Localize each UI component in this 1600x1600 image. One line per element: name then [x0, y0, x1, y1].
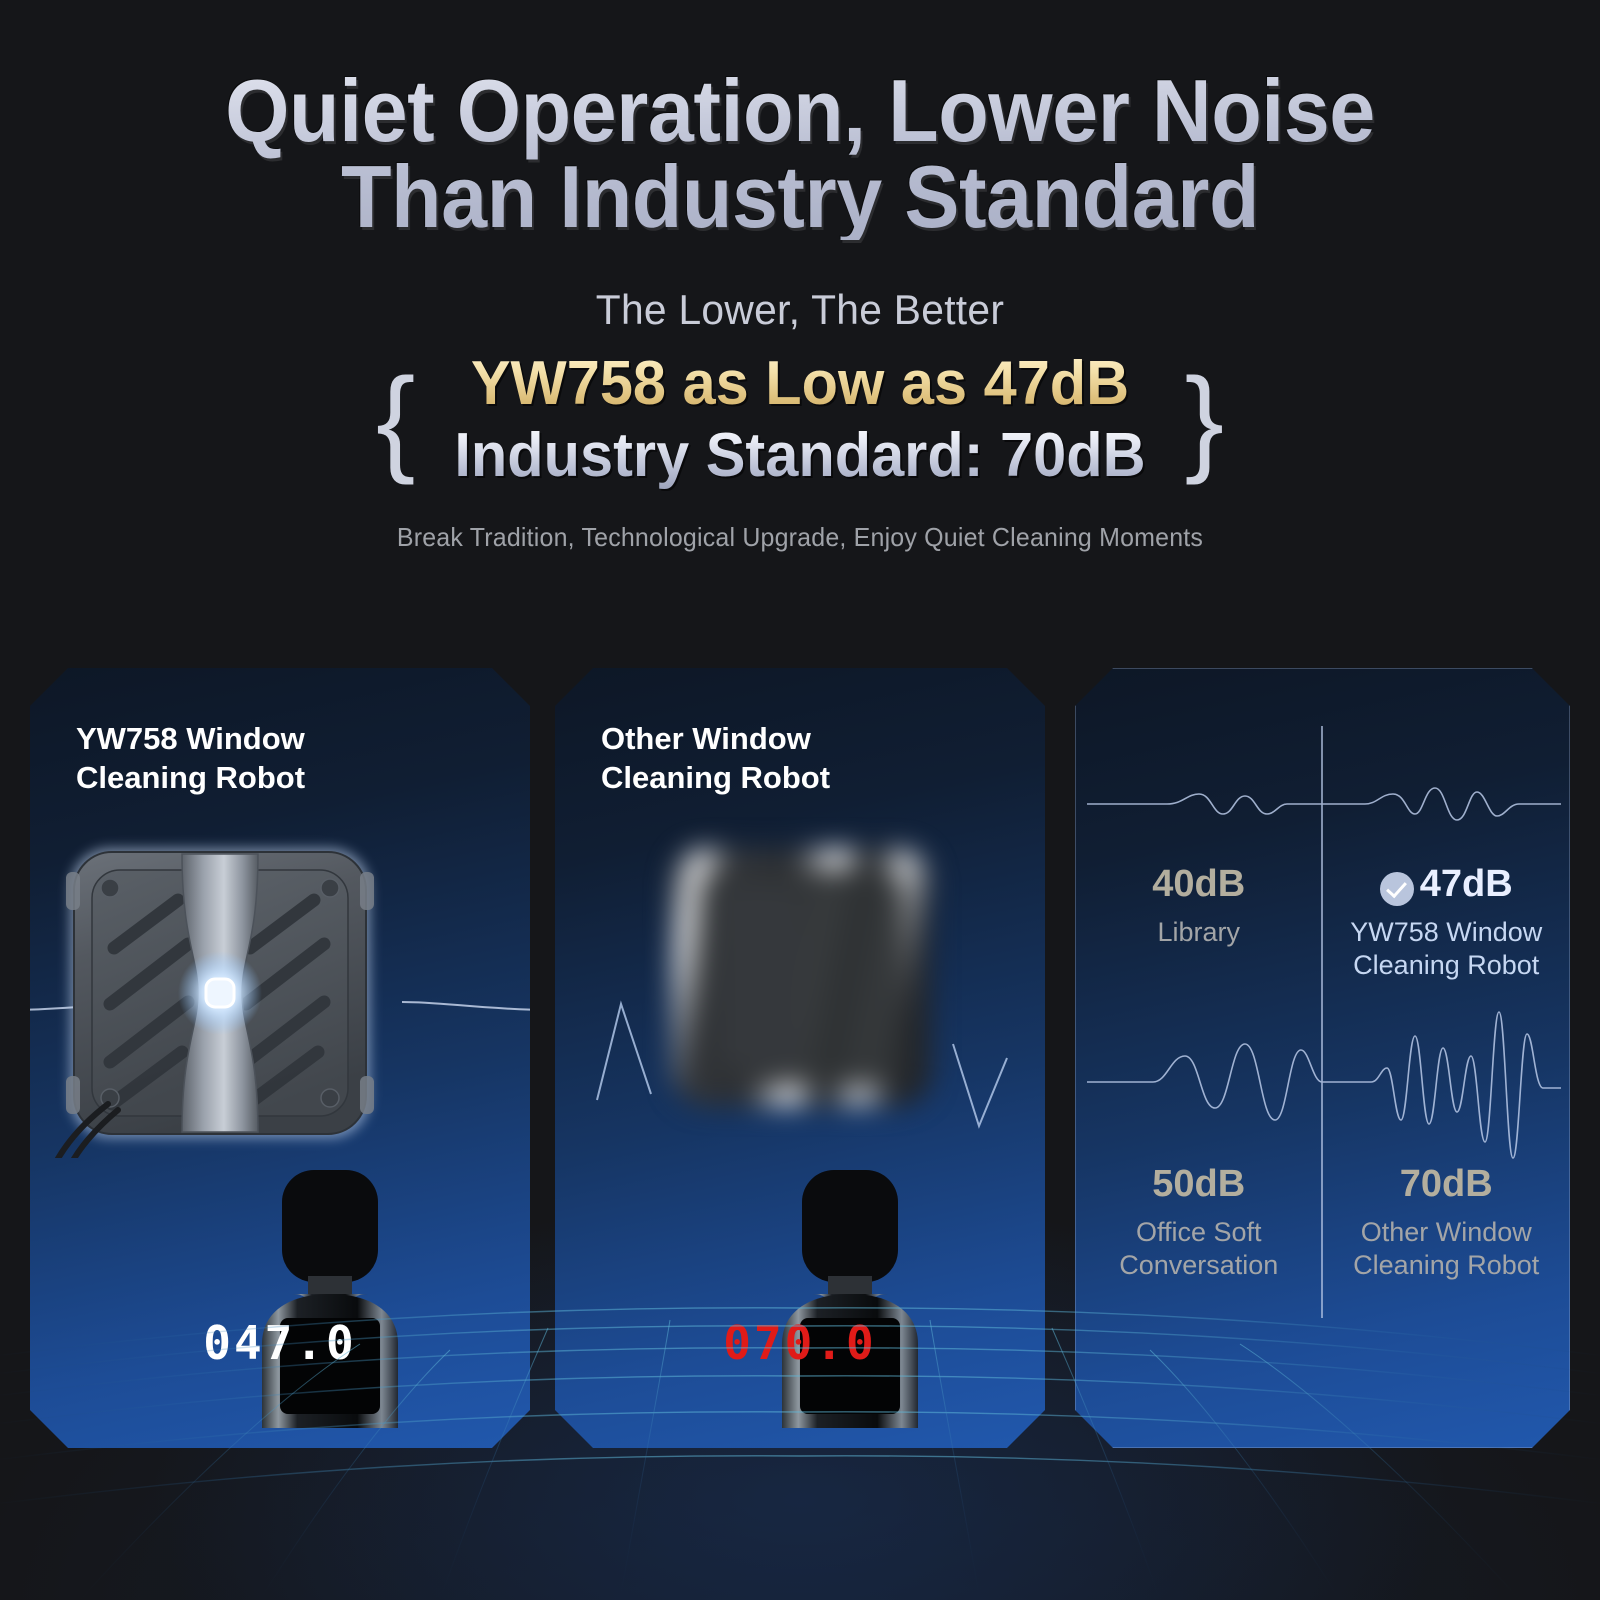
- quadrant-label: Library: [1075, 916, 1323, 949]
- quadrant-bottom-left: 50dB Office Soft Conversation: [1075, 1164, 1323, 1282]
- quadrant-label: Other Window Cleaning Robot: [1323, 1216, 1571, 1282]
- page-title-line1: Quiet Operation, Lower Noise: [225, 61, 1375, 160]
- quadrant-label-line1: Office Soft: [1075, 1216, 1323, 1249]
- panel-title-line1: YW758 Window: [76, 720, 305, 759]
- panel-title-line2: Cleaning Robot: [76, 759, 305, 798]
- quadrant-db-value: 47dB: [1420, 864, 1513, 906]
- sound-meter-other: [754, 1168, 944, 1428]
- vibration-spike-left: [597, 1004, 651, 1100]
- page-title: Quiet Operation, Lower Noise Than Indust…: [48, 0, 1552, 240]
- brace-left-icon: {: [376, 361, 415, 479]
- quadrant-label-line2: Conversation: [1075, 1249, 1323, 1282]
- robot-illustration: [30, 818, 530, 1158]
- brace-right-icon: }: [1185, 361, 1224, 479]
- panel-other: Other Window Cleaning Robot: [555, 668, 1045, 1448]
- subtitle: The Lower, The Better: [24, 286, 1576, 334]
- quadrant-label-line2: Cleaning Robot: [1323, 1249, 1571, 1282]
- power-button-icon: [206, 979, 234, 1007]
- panel-yw758: YW758 Window Cleaning Robot: [30, 668, 530, 1448]
- quadrant-top-right: 47dB YW758 Window Cleaning Robot: [1323, 864, 1571, 982]
- quadrant-label-line2: Cleaning Robot: [1323, 949, 1571, 982]
- quadrant-db-value: 70dB: [1323, 1164, 1571, 1206]
- quadrant-label-line1: Other Window: [1323, 1216, 1571, 1249]
- meter-reading-other: 070.0: [723, 1316, 876, 1370]
- comparison-panels: YW758 Window Cleaning Robot: [0, 668, 1600, 1448]
- check-circle-icon: [1380, 872, 1414, 906]
- panel-title-line1: Other Window: [601, 720, 830, 759]
- quadrant-label-line1: YW758 Window: [1323, 916, 1571, 949]
- quadrant-top-left: 40dB Library: [1075, 864, 1323, 949]
- quadrant-bottom-right: 70dB Other Window Cleaning Robot: [1323, 1164, 1571, 1282]
- meter-windscreen: [282, 1170, 378, 1282]
- sound-meter-yw758: [234, 1168, 424, 1428]
- panel-title-yw758: YW758 Window Cleaning Robot: [76, 720, 305, 798]
- vibration-blur-group: [673, 848, 931, 1106]
- meter-windscreen: [802, 1170, 898, 1282]
- header: Quiet Operation, Lower Noise Than Indust…: [0, 0, 1600, 553]
- quadrant-db-value-row: 47dB: [1323, 864, 1571, 906]
- vibration-spike-right: [953, 1044, 1007, 1126]
- panel-title-line2: Cleaning Robot: [601, 759, 830, 798]
- meter-reading-yw758: 047.0: [203, 1316, 356, 1370]
- poster-root: Quiet Operation, Lower Noise Than Indust…: [0, 0, 1600, 1600]
- highlight-block: { } YW758 as Low as 47dB Industry Standa…: [374, 348, 1226, 492]
- page-title-line2: Than Industry Standard: [48, 154, 1552, 240]
- tagline: Break Tradition, Technological Upgrade, …: [32, 522, 1568, 553]
- quadrant-labels: 40dB Library 47dB YW758 Window Cleaning …: [1075, 668, 1570, 1448]
- highlight-silver-line: Industry Standard: 70dB: [454, 420, 1145, 492]
- quadrant-label-line1: Library: [1075, 916, 1323, 949]
- quiet-wave-right: [402, 1002, 530, 1010]
- quadrant-label: YW758 Window Cleaning Robot: [1323, 916, 1571, 982]
- panel-noise-chart: 40dB Library 47dB YW758 Window Cleaning …: [1075, 668, 1570, 1448]
- quadrant-db-value: 50dB: [1075, 1164, 1323, 1206]
- panel-title-other: Other Window Cleaning Robot: [601, 720, 830, 798]
- quadrant-db-value: 40dB: [1075, 864, 1323, 906]
- highlight-gold-line: YW758 as Low as 47dB: [454, 348, 1145, 420]
- quadrant-label: Office Soft Conversation: [1075, 1216, 1323, 1282]
- blurred-robot-illustration: [555, 808, 1045, 1168]
